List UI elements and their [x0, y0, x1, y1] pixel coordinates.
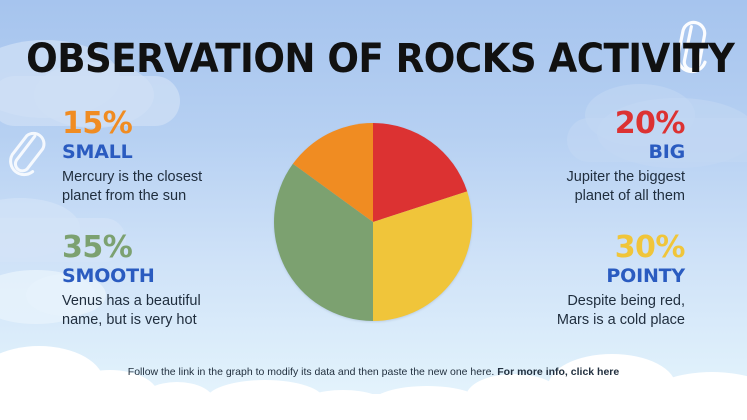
stat-percent: 20%	[453, 108, 685, 140]
stat-description: Mercury is the closest planet from the s…	[62, 168, 294, 206]
cloud-puff	[372, 386, 482, 420]
stat-block-big: 20% BIG Jupiter the biggest planet of al…	[453, 108, 685, 207]
stat-label: SMOOTH	[62, 265, 294, 289]
stat-block-pointy: 30% POINTY Despite being red, Mars is a …	[453, 232, 685, 331]
stat-block-smooth: 35% SMOOTH Venus has a beautiful name, b…	[62, 232, 294, 331]
footer-link[interactable]: For more info, click here	[497, 366, 619, 378]
footer-note: Follow the link in the graph to modify i…	[0, 366, 747, 378]
pie-chart-svg	[273, 122, 473, 322]
page-title: OBSERVATION OF ROCKS ACTIVITY	[26, 36, 721, 82]
stat-block-small: 15% SMALL Mercury is the closest planet …	[62, 108, 294, 207]
cloud-puff	[140, 382, 214, 420]
stat-label: SMALL	[62, 141, 294, 165]
pie-chart	[273, 122, 473, 322]
paperclip-icon	[1, 123, 51, 192]
stat-percent: 30%	[453, 232, 685, 264]
stat-description: Jupiter the biggest planet of all them	[453, 168, 685, 206]
cloud-band-base	[0, 394, 747, 420]
cloud-puff	[206, 380, 324, 420]
stat-label: BIG	[453, 141, 685, 165]
cloud-puff	[650, 372, 747, 420]
stat-percent: 15%	[62, 108, 294, 140]
stat-description: Despite being red, Mars is a cold place	[453, 292, 685, 330]
stat-description: Venus has a beautiful name, but is very …	[62, 292, 294, 330]
cloud-puff	[0, 346, 104, 420]
cloud-puff	[0, 386, 62, 420]
cloud-puff	[466, 374, 562, 420]
footer-text: Follow the link in the graph to modify i…	[128, 366, 497, 378]
cloud-puff	[548, 354, 676, 420]
stat-percent: 35%	[62, 232, 294, 264]
cloud-puff	[300, 390, 386, 420]
stat-label: POINTY	[453, 265, 685, 289]
